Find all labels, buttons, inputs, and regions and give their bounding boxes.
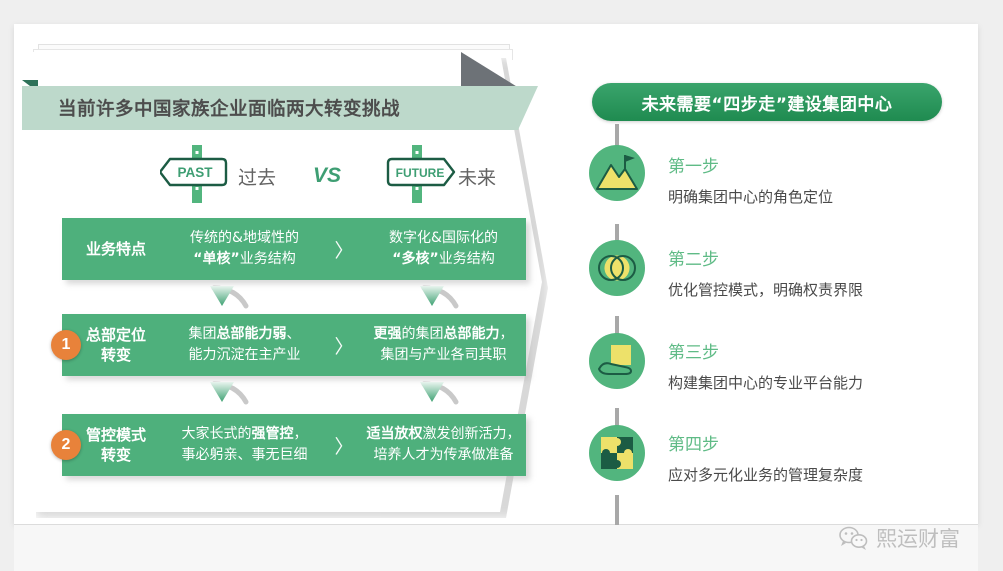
row-2-category: 总部定位 转变 [70,325,162,366]
connector-4 [615,495,619,525]
row-3-future-l1-tail: ， [507,426,521,442]
step-4-title: 第四步 [668,430,719,455]
row-3-category-line2: 转变 [70,445,162,465]
step-2-desc: 优化管控模式，明确权责界限 [668,279,863,300]
row-1-past: 传统的&地域性的 “单核”业务结构 [162,228,327,270]
right-banner-title: 未来需要“四步走”建设集团中心 [642,90,893,115]
row-1-future: 数字化&国际化的 “多核”业务结构 [361,228,526,270]
step-4-circle [589,425,645,481]
venn-diagram-icon [589,240,645,296]
row-2-past-l1-em: 总部能力弱 [217,326,287,342]
row-2-past-l1-tail: 、 [287,326,301,342]
row-1-future-line2-quote: “多核” [392,251,438,267]
row-2-past-line1: 集团总部能力弱、 [166,324,323,345]
right-banner: 未来需要“四步走”建设集团中心 [592,83,942,121]
row-2-future-l1-em2: 总部能力 [444,326,500,342]
down-arrow-right-2 [418,380,464,410]
row-2-future: 更强的集团总部能力， 集团与产业各司其职 [361,324,526,366]
step-3-desc: 构建集团中心的专业平台能力 [668,372,863,393]
step-1-title: 第一步 [668,152,719,177]
row-1-category: 业务特点 [70,239,162,259]
row-3-past-l1-tail: ， [294,426,308,442]
vs-label: VS [313,164,341,188]
step-1-desc: 明确集团中心的角色定位 [668,186,833,207]
row-3-past-l1-a: 大家长式的 [182,426,252,442]
row-2-category-line1: 总部定位 [70,325,162,345]
row-3-chevron-icon: 〉 [327,432,361,459]
svg-text:FUTURE: FUTURE [396,166,445,180]
down-arrow-left-1 [208,284,254,314]
page-background: 当前许多中国家族企业面临两大转变挑战 PAST 过去 VS FUTURE 未来 … [0,0,1003,570]
row-3-category: 管控模式 转变 [70,425,162,466]
watermark: 熙运财富 [838,523,960,553]
row-2-past: 集团总部能力弱、 能力沉淀在主产业 [162,324,327,366]
row-control-mode: 管控模式 转变 大家长式的强管控， 事必躬亲、事无巨细 〉 适当放权激发创新活力… [62,414,526,476]
row-3-past-line2: 事必躬亲、事无巨细 [166,445,323,466]
row-1-chevron-icon: 〉 [327,236,361,263]
row-business-features: 业务特点 传统的&地域性的 “单核”业务结构 〉 数字化&国际化的 “多核”业务… [62,218,526,280]
row-1-past-line2: “单核”业务结构 [166,249,323,270]
row-1-past-line1: 传统的&地域性的 [166,228,323,249]
step-2-title: 第二步 [668,245,719,270]
left-banner-title: 当前许多中国家族企业面临两大转变挑战 [58,95,498,121]
row-2-number-badge: 1 [51,330,81,360]
step-4-desc: 应对多元化业务的管理复杂度 [668,464,863,485]
watermark-text: 熙运财富 [876,523,960,553]
footer-strip [14,524,978,571]
row-3-future-l1-mid: 激发创新活力 [423,426,507,442]
row-2-future-l1-em: 更强 [374,326,402,342]
row-2-future-l1-tail: ， [500,326,514,342]
past-signpost-icon: PAST [160,143,236,210]
row-1-past-line2-quote: “单核” [193,251,239,267]
row-3-past: 大家长式的强管控， 事必躬亲、事无巨细 [162,424,327,466]
svg-text:PAST: PAST [177,165,213,180]
row-2-category-line2: 转变 [70,345,162,365]
row-1-future-line1: 数字化&国际化的 [365,228,522,249]
past-label: 过去 [238,163,276,190]
row-2-future-l1-mid: 的集团 [402,326,444,342]
step-3-circle [589,333,645,389]
row-1-past-line2-rest: 业务结构 [240,251,296,267]
row-3-future: 适当放权激发创新活力， 培养人才为传承做准备 [361,424,526,466]
future-signpost-icon: FUTURE [378,143,458,210]
future-label: 未来 [458,163,496,190]
row-3-future-line2: 培养人才为传承做准备 [365,445,522,466]
down-arrow-left-2 [208,380,254,410]
puzzle-icon [589,425,645,481]
row-3-number-badge: 2 [51,430,81,460]
row-3-past-line1: 大家长式的强管控， [166,424,323,445]
row-3-past-l1-em: 强管控 [252,426,294,442]
down-arrow-right-1 [418,284,464,314]
row-2-past-line2: 能力沉淀在主产业 [166,345,323,366]
row-2-future-line2: 集团与产业各司其职 [365,345,522,366]
row-3-future-line1: 适当放权激发创新活力， [365,424,522,445]
step-2-circle [589,240,645,296]
hand-card-icon [589,333,645,389]
row-2-past-l1-a: 集团 [189,326,217,342]
step-1-circle [589,145,645,201]
row-2-chevron-icon: 〉 [327,332,361,359]
row-1-future-line2-rest: 业务结构 [439,251,495,267]
wechat-icon [838,525,868,551]
row-3-future-l1-em: 适当放权 [367,426,423,442]
row-3-category-line1: 管控模式 [70,425,162,445]
step-3-title: 第三步 [668,338,719,363]
mountain-flag-icon [589,145,645,201]
row-1-future-line2: “多核”业务结构 [365,249,522,270]
row-hq-positioning: 总部定位 转变 集团总部能力弱、 能力沉淀在主产业 〉 更强的集团总部能力， 集… [62,314,526,376]
row-2-future-line1: 更强的集团总部能力， [365,324,522,345]
